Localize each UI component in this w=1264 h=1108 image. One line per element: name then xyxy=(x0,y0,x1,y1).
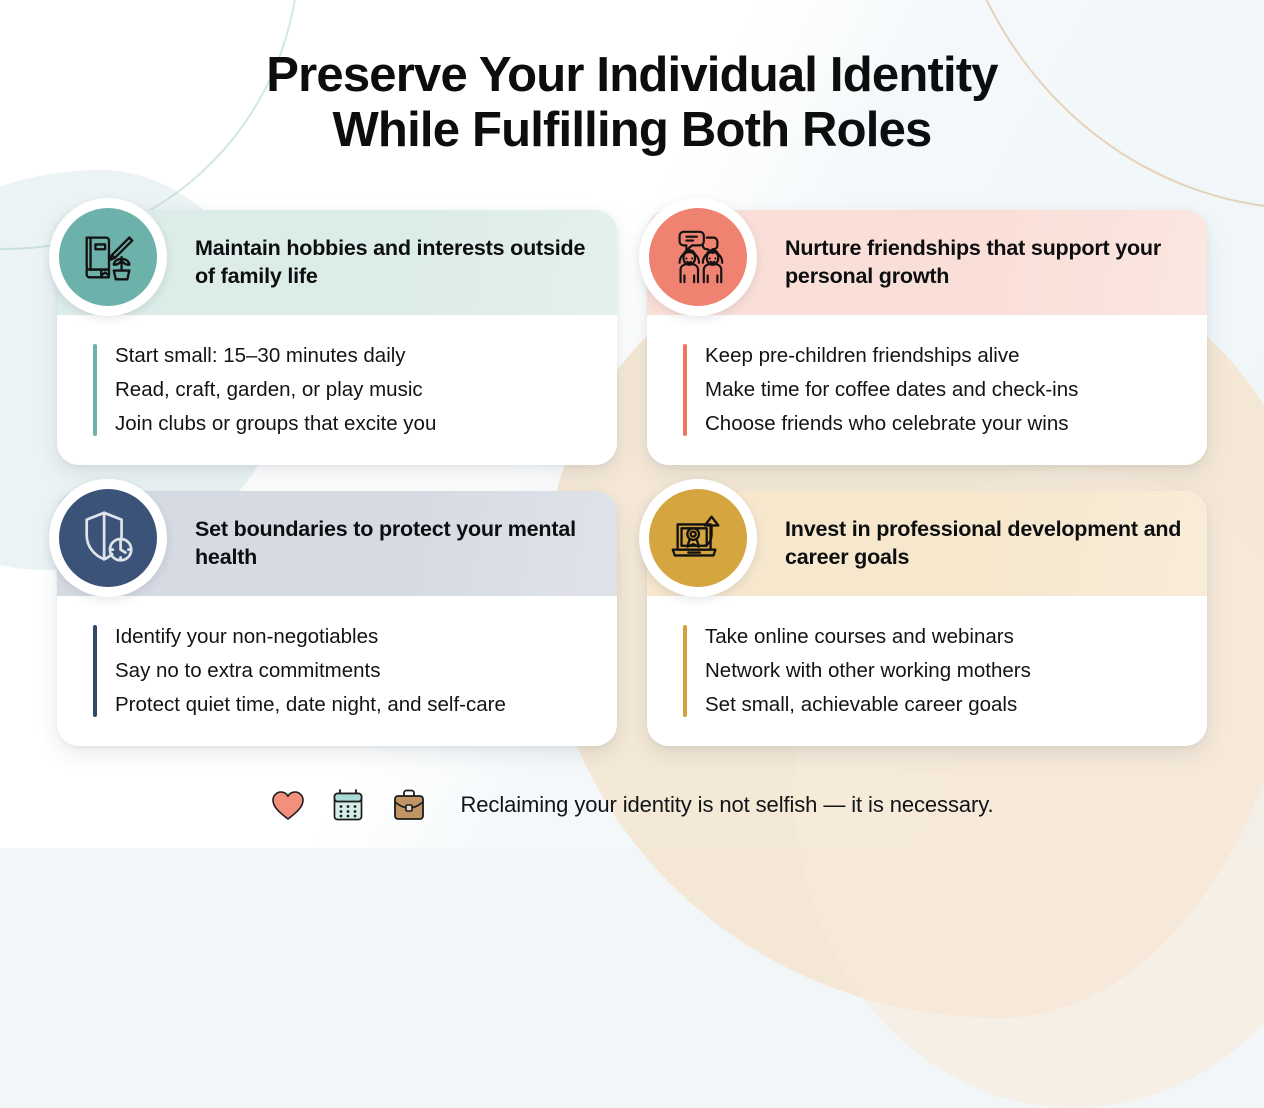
list-item: Take online courses and webinars xyxy=(705,620,1031,654)
page-title: Preserve Your Individual Identity While … xyxy=(0,0,1264,158)
card-body: Take online courses and webinars Network… xyxy=(647,596,1207,746)
card-title: Nurture friendships that support your pe… xyxy=(785,235,1193,291)
card-icon-badge xyxy=(49,198,167,316)
accent-bar xyxy=(93,625,97,717)
footer-text: Reclaiming your identity is not selfish … xyxy=(461,792,994,818)
card-title: Invest in professional development and c… xyxy=(785,516,1193,572)
card-boundaries[interactable]: Set boundaries to protect your mental he… xyxy=(57,491,617,746)
list-item: Set small, achievable career goals xyxy=(705,688,1031,722)
briefcase-icon xyxy=(391,788,427,822)
card-career[interactable]: Invest in professional development and c… xyxy=(647,491,1207,746)
calendar-icon xyxy=(331,788,365,822)
two-women-speech-bubbles-icon xyxy=(649,208,747,306)
card-icon-badge xyxy=(639,479,757,597)
card-body: Keep pre-children friendships alive Make… xyxy=(647,315,1207,465)
bullet-list: Identify your non-negotiables Say no to … xyxy=(115,620,506,722)
list-item: Read, craft, garden, or play music xyxy=(115,373,436,407)
card-icon-badge xyxy=(49,479,167,597)
list-item: Protect quiet time, date night, and self… xyxy=(115,688,506,722)
bullet-list: Start small: 15–30 minutes daily Read, c… xyxy=(115,339,436,441)
list-item: Start small: 15–30 minutes daily xyxy=(115,339,436,373)
page-title-line-2: While Fulfilling Both Roles xyxy=(0,103,1264,158)
accent-bar xyxy=(683,625,687,717)
list-item: Choose friends who celebrate your wins xyxy=(705,407,1078,441)
list-item: Identify your non-negotiables xyxy=(115,620,506,654)
card-title: Maintain hobbies and interests outside o… xyxy=(195,235,603,291)
laptop-award-arrow-icon xyxy=(649,489,747,587)
card-body: Start small: 15–30 minutes daily Read, c… xyxy=(57,315,617,465)
card-hobbies[interactable]: Maintain hobbies and interests outside o… xyxy=(57,210,617,465)
card-title: Set boundaries to protect your mental he… xyxy=(195,516,603,572)
page-title-line-1: Preserve Your Individual Identity xyxy=(0,48,1264,103)
list-item: Say no to extra commitments xyxy=(115,654,506,688)
list-item: Network with other working mothers xyxy=(705,654,1031,688)
list-item: Make time for coffee dates and check-ins xyxy=(705,373,1078,407)
card-body: Identify your non-negotiables Say no to … xyxy=(57,596,617,746)
bullet-list: Take online courses and webinars Network… xyxy=(705,620,1031,722)
footer-icons xyxy=(271,788,427,822)
card-friendships[interactable]: Nurture friendships that support your pe… xyxy=(647,210,1207,465)
list-item: Keep pre-children friendships alive xyxy=(705,339,1078,373)
accent-bar xyxy=(683,344,687,436)
card-icon-badge xyxy=(639,198,757,316)
card-grid: Maintain hobbies and interests outside o… xyxy=(57,210,1247,746)
bullet-list: Keep pre-children friendships alive Make… xyxy=(705,339,1078,441)
heart-icon xyxy=(271,789,305,821)
shield-clock-icon xyxy=(59,489,157,587)
footer: Reclaiming your identity is not selfish … xyxy=(0,788,1264,822)
book-paintbrush-plant-icon xyxy=(59,208,157,306)
list-item: Join clubs or groups that excite you xyxy=(115,407,436,441)
accent-bar xyxy=(93,344,97,436)
